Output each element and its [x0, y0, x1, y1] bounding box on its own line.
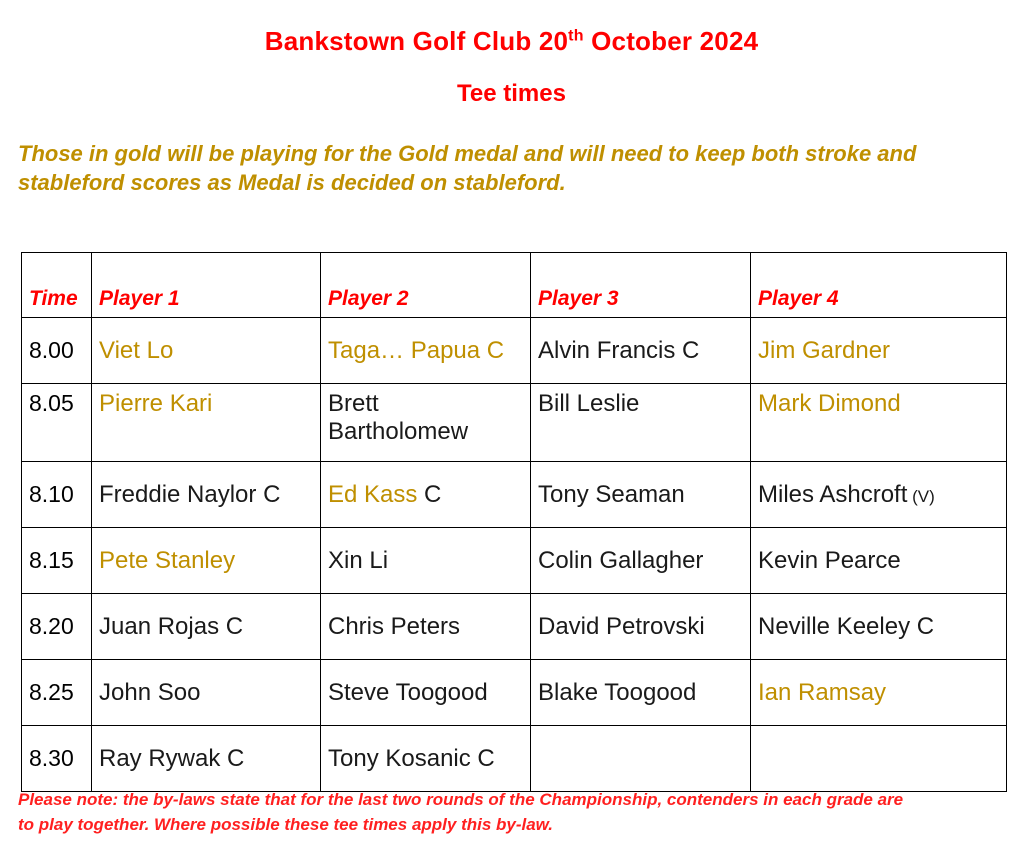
- cell-player-4: Mark Dimond: [751, 384, 1007, 462]
- cell-player-2: Taga… Papua C: [321, 318, 531, 384]
- column-header-player-4: Player 4: [751, 253, 1007, 318]
- cell-player-3: Blake Toogood: [531, 660, 751, 726]
- table-row: 8.30Ray Rywak CTony Kosanic C: [22, 726, 1007, 792]
- page-title-main: Bankstown Golf Club 20: [265, 26, 568, 56]
- cell-time: 8.15: [22, 528, 92, 594]
- table-header-row: Time Player 1 Player 2 Player 3 Player 4: [22, 253, 1007, 318]
- tee-times-document: Bankstown Golf Club 20th October 2024 Te…: [0, 0, 1023, 854]
- player-name: Colin Gallagher: [538, 547, 703, 574]
- cell-player-3: David Petrovski: [531, 594, 751, 660]
- player-name: Blake Toogood: [538, 679, 696, 706]
- cell-time: 8.10: [22, 462, 92, 528]
- player-name: Steve Toogood: [328, 679, 488, 706]
- player-name-text: Xin Li: [328, 547, 388, 574]
- table-row: 8.10Freddie Naylor CEd Kass CTony Seaman…: [22, 462, 1007, 528]
- tee-times-table: Time Player 1 Player 2 Player 3 Player 4…: [21, 252, 1007, 792]
- player-name-text: Blake Toogood: [538, 679, 696, 706]
- cell-time: 8.05: [22, 384, 92, 462]
- player-name-text: Pierre Kari: [99, 390, 212, 417]
- player-name-text: Mark Dimond: [758, 390, 901, 417]
- table-header: Time Player 1 Player 2 Player 3 Player 4: [22, 253, 1007, 318]
- player-name-text: Brett Bartholomew: [328, 390, 468, 445]
- table-row: 8.20Juan Rojas CChris PetersDavid Petrov…: [22, 594, 1007, 660]
- cell-player-2: Steve Toogood: [321, 660, 531, 726]
- player-name: Tony Kosanic C: [328, 745, 495, 772]
- player-name-text: Kevin Pearce: [758, 547, 901, 574]
- player-name: Miles Ashcroft (V): [758, 481, 935, 508]
- table-row: 8.25John SooSteve ToogoodBlake ToogoodIa…: [22, 660, 1007, 726]
- player-name: Pierre Kari: [99, 390, 212, 417]
- player-name: Neville Keeley C: [758, 613, 934, 640]
- player-name-text: Taga… Papua C: [328, 337, 504, 364]
- cell-player-1: Viet Lo: [92, 318, 321, 384]
- player-name-text: Tony Kosanic C: [328, 745, 495, 772]
- cell-player-4: Jim Gardner: [751, 318, 1007, 384]
- player-name: Bill Leslie: [538, 390, 639, 417]
- player-name-text: Jim Gardner: [758, 337, 890, 364]
- column-header-player-3: Player 3: [531, 253, 751, 318]
- table-body: 8.00Viet LoTaga… Papua CAlvin Francis CJ…: [22, 318, 1007, 792]
- player-name-text: Bill Leslie: [538, 390, 639, 417]
- cell-player-4: Kevin Pearce: [751, 528, 1007, 594]
- player-name: Pete Stanley: [99, 547, 235, 574]
- player-name: Ian Ramsay: [758, 679, 886, 706]
- player-name: Kevin Pearce: [758, 547, 901, 574]
- cell-player-4: Ian Ramsay: [751, 660, 1007, 726]
- page-title: Bankstown Golf Club 20th October 2024: [0, 0, 1023, 56]
- cell-time: 8.25: [22, 660, 92, 726]
- table-row: 8.00Viet LoTaga… Papua CAlvin Francis CJ…: [22, 318, 1007, 384]
- player-name-text: Ray Rywak C: [99, 745, 244, 772]
- column-header-player-1: Player 1: [92, 253, 321, 318]
- cell-time: 8.20: [22, 594, 92, 660]
- cell-player-1: John Soo: [92, 660, 321, 726]
- table-row: 8.15Pete StanleyXin LiColin GallagherKev…: [22, 528, 1007, 594]
- by-law-footer-note: Please note: the by-laws state that for …: [18, 788, 918, 837]
- player-name-text: John Soo: [99, 679, 200, 706]
- player-name-text: Colin Gallagher: [538, 547, 703, 574]
- player-name-text: Alvin Francis C: [538, 337, 699, 364]
- cell-player-2: Chris Peters: [321, 594, 531, 660]
- cell-player-1: Pete Stanley: [92, 528, 321, 594]
- cell-player-3: Colin Gallagher: [531, 528, 751, 594]
- cell-time: 8.30: [22, 726, 92, 792]
- player-name-text: Juan Rojas C: [99, 613, 243, 640]
- player-name-text: Freddie Naylor C: [99, 481, 280, 508]
- table-row: 8.05Pierre KariBrett BartholomewBill Les…: [22, 384, 1007, 462]
- player-name: Tony Seaman: [538, 481, 685, 508]
- cell-player-1: Pierre Kari: [92, 384, 321, 462]
- cell-player-4: [751, 726, 1007, 792]
- player-name-text: Viet Lo: [99, 337, 173, 364]
- page-title-tail: October 2024: [584, 26, 759, 56]
- column-header-time: Time: [22, 253, 92, 318]
- player-name-text: Neville Keeley C: [758, 613, 934, 640]
- cell-time: 8.00: [22, 318, 92, 384]
- player-name: Viet Lo: [99, 337, 173, 364]
- cell-player-3: Tony Seaman: [531, 462, 751, 528]
- player-name-text: Pete Stanley: [99, 547, 235, 574]
- cell-player-2: Xin Li: [321, 528, 531, 594]
- player-name: Xin Li: [328, 547, 388, 574]
- player-name: David Petrovski: [538, 613, 705, 640]
- cell-player-4: Miles Ashcroft (V): [751, 462, 1007, 528]
- cell-player-3: [531, 726, 751, 792]
- cell-player-2: Tony Kosanic C: [321, 726, 531, 792]
- player-name-text: Ed Kass: [328, 481, 417, 508]
- column-header-player-2: Player 2: [321, 253, 531, 318]
- player-name: Alvin Francis C: [538, 337, 699, 364]
- player-name-text: Chris Peters: [328, 613, 460, 640]
- cell-player-1: Freddie Naylor C: [92, 462, 321, 528]
- page-title-ordinal-suffix: th: [568, 27, 584, 44]
- player-name: Taga… Papua C: [328, 337, 504, 364]
- page-subtitle: Tee times: [0, 56, 1023, 107]
- cell-player-3: Alvin Francis C: [531, 318, 751, 384]
- player-name-text: Ian Ramsay: [758, 679, 886, 706]
- cell-player-2: Brett Bartholomew: [321, 384, 531, 462]
- player-name-text: David Petrovski: [538, 613, 705, 640]
- player-name-text: Miles Ashcroft: [758, 481, 907, 508]
- player-name: Mark Dimond: [758, 390, 901, 417]
- cell-player-1: Juan Rojas C: [92, 594, 321, 660]
- player-name-suffix: (V): [907, 487, 934, 506]
- player-name: Juan Rojas C: [99, 613, 243, 640]
- player-name-suffix: C: [417, 481, 441, 508]
- player-name: Chris Peters: [328, 613, 460, 640]
- player-name-text: Steve Toogood: [328, 679, 488, 706]
- player-name: Ed Kass C: [328, 481, 441, 508]
- cell-player-3: Bill Leslie: [531, 384, 751, 462]
- player-name: Freddie Naylor C: [99, 481, 280, 508]
- cell-player-2: Ed Kass C: [321, 462, 531, 528]
- player-name: Jim Gardner: [758, 337, 890, 364]
- player-name-text: Tony Seaman: [538, 481, 685, 508]
- gold-medal-note: Those in gold will be playing for the Go…: [18, 139, 938, 197]
- cell-player-4: Neville Keeley C: [751, 594, 1007, 660]
- player-name: John Soo: [99, 679, 200, 706]
- cell-player-1: Ray Rywak C: [92, 726, 321, 792]
- player-name: Brett Bartholomew: [328, 390, 468, 445]
- player-name: Ray Rywak C: [99, 745, 244, 772]
